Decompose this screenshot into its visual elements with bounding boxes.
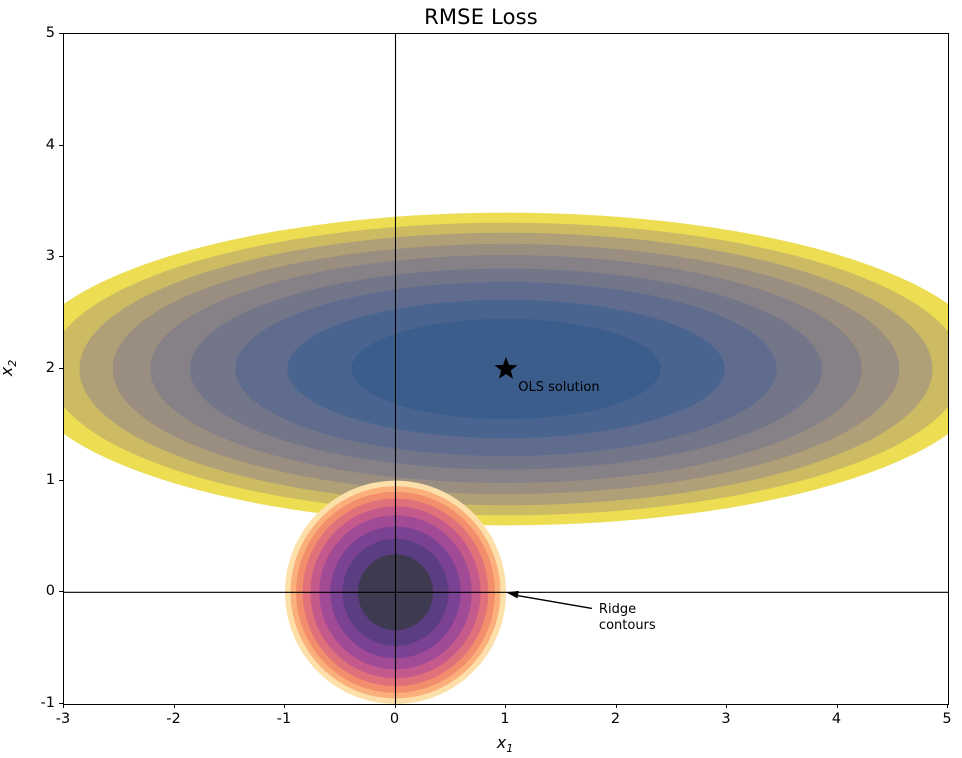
y-tick-label: -1 <box>17 695 55 711</box>
y-tick-mark <box>59 368 63 369</box>
x-tick-mark <box>947 704 948 708</box>
x-tick-mark <box>174 704 175 708</box>
ridge-contours-annotation: Ridge contours <box>599 602 656 633</box>
y-axis-label-subscript: 2 <box>6 360 19 367</box>
x-tick-label: 1 <box>500 711 509 727</box>
x-tick-label: -3 <box>56 711 70 727</box>
y-tick-mark <box>59 480 63 481</box>
plot-axes-frame <box>63 33 949 705</box>
contour-plot-area <box>64 34 948 704</box>
y-tick-label: 3 <box>17 248 55 264</box>
ols-solution-annotation: OLS solution <box>518 380 599 395</box>
y-tick-mark <box>59 33 63 34</box>
y-tick-label: 2 <box>17 360 55 376</box>
x-axis-label-text: x <box>497 733 506 752</box>
y-tick-mark <box>59 591 63 592</box>
ridge-arrow-shaft <box>516 595 592 608</box>
x-axis-label: x1 <box>63 733 947 755</box>
contour-svg <box>64 34 948 704</box>
x-tick-label: 0 <box>390 711 399 727</box>
x-tick-label: -1 <box>277 711 291 727</box>
x-tick-mark <box>837 704 838 708</box>
x-tick-label: 5 <box>942 711 951 727</box>
y-tick-label: 1 <box>17 472 55 488</box>
x-tick-label: 4 <box>832 711 841 727</box>
x-tick-mark <box>726 704 727 708</box>
y-axis-label-text: x <box>0 367 16 376</box>
y-tick-label: 0 <box>17 583 55 599</box>
page-title: RMSE Loss <box>0 5 962 29</box>
figure-canvas: RMSE Loss -3-2-1012345-1012345 x1 x2 OLS… <box>0 0 962 758</box>
x-tick-mark <box>63 704 64 708</box>
x-tick-label: 2 <box>611 711 620 727</box>
y-axis-label: x2 <box>0 360 19 376</box>
y-tick-mark <box>59 703 63 704</box>
x-tick-mark <box>616 704 617 708</box>
x-tick-label: -2 <box>166 711 180 727</box>
y-tick-mark <box>59 256 63 257</box>
y-tick-label: 5 <box>17 25 55 41</box>
x-tick-label: 3 <box>721 711 730 727</box>
y-tick-mark <box>59 145 63 146</box>
x-tick-mark <box>505 704 506 708</box>
x-axis-label-subscript: 1 <box>506 742 513 755</box>
x-tick-mark <box>395 704 396 708</box>
y-tick-label: 4 <box>17 137 55 153</box>
x-tick-mark <box>284 704 285 708</box>
